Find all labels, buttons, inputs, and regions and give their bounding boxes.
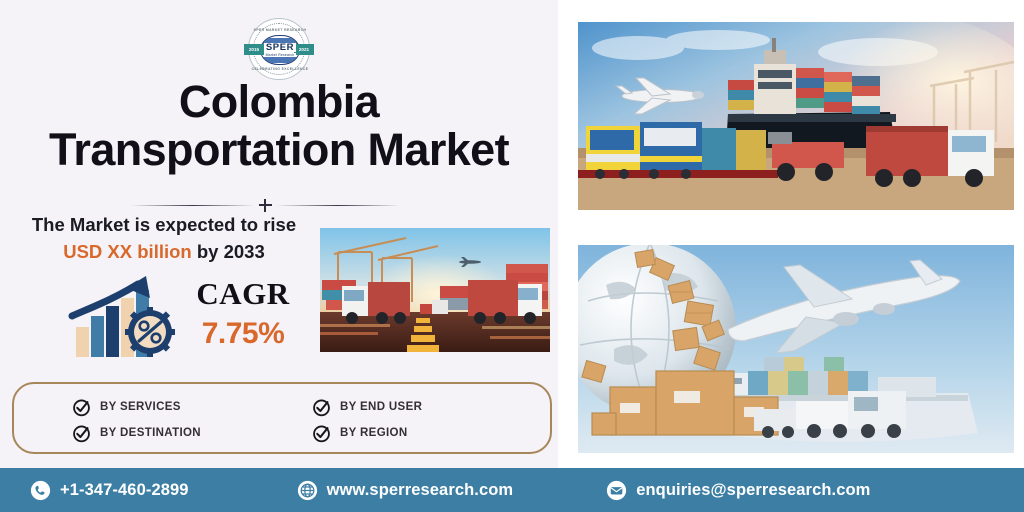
- headline-accent-value: USD XX billion: [63, 241, 191, 262]
- segments-box: BY SERVICES BY END USER BY DESTINATION: [12, 382, 552, 454]
- check-circle-icon: [72, 424, 91, 443]
- headline-lead: The Market is expected to rise: [14, 212, 314, 239]
- check-circle-icon: [312, 398, 331, 417]
- logo-tagline: Market Research: [264, 53, 297, 57]
- envelope-icon: [606, 480, 627, 501]
- title-line-2: Transportation Market: [0, 126, 558, 174]
- logo-arc-top-text: SPER MARKET RESEARCH: [249, 28, 311, 32]
- check-circle-icon: [72, 398, 91, 417]
- check-circle-icon: [312, 424, 331, 443]
- page-title: Colombia Transportation Market: [0, 78, 558, 173]
- cagr-block: CAGR 7.75%: [178, 278, 308, 351]
- footer-website[interactable]: www.sperresearch.com: [297, 480, 514, 501]
- globe-parcels-photo: [578, 245, 1014, 453]
- footer-email[interactable]: enquiries@sperresearch.com: [606, 480, 870, 501]
- port-highway-trucks-photo: [320, 228, 550, 352]
- segment-by-end-user[interactable]: BY END USER: [312, 398, 542, 417]
- phone-icon: [30, 480, 51, 501]
- cagr-label: CAGR: [178, 278, 308, 311]
- growth-chart-icon: [68, 272, 176, 364]
- market-headline: The Market is expected to rise USD XX bi…: [14, 212, 314, 266]
- segment-label: BY END USER: [340, 401, 422, 413]
- logo-core: SPER Market Research: [260, 35, 300, 65]
- multimodal-logistics-photo: [578, 22, 1014, 210]
- logo-container: SPER MARKET RESEARCH CELEBRATING EXCELLE…: [0, 18, 558, 80]
- logo-arc-bottom-text: CELEBRATING EXCELLENCE: [249, 67, 311, 71]
- segment-by-services[interactable]: BY SERVICES: [72, 398, 312, 417]
- segment-by-destination[interactable]: BY DESTINATION: [72, 424, 312, 443]
- divider-bar-left: [130, 205, 255, 206]
- segment-label: BY DESTINATION: [100, 427, 201, 439]
- divider-bar-right: [276, 205, 401, 206]
- contact-footer: +1-347-460-2899 www.sperresearch.com: [0, 468, 1024, 512]
- right-panel: [558, 0, 1024, 468]
- headline-forecast: USD XX billion by 2033: [14, 239, 314, 266]
- title-line-1: Colombia: [179, 76, 379, 127]
- segment-by-region[interactable]: BY REGION: [312, 424, 542, 443]
- segment-label: BY REGION: [340, 427, 407, 439]
- logo-ribbon-year-start: 2015: [244, 44, 264, 55]
- footer-email-text: enquiries@sperresearch.com: [636, 481, 870, 500]
- headline-tail: by 2033: [192, 241, 265, 262]
- globe-icon: [297, 480, 318, 501]
- divider-ornament-icon: [259, 199, 272, 212]
- footer-website-text: www.sperresearch.com: [327, 481, 514, 500]
- footer-phone-text: +1-347-460-2899: [60, 481, 189, 500]
- infographic-poster: SPER MARKET RESEARCH CELEBRATING EXCELLE…: [0, 0, 1024, 512]
- cagr-value: 7.75%: [178, 317, 308, 351]
- sper-logo-badge: SPER MARKET RESEARCH CELEBRATING EXCELLE…: [248, 18, 310, 80]
- segments-grid: BY SERVICES BY END USER BY DESTINATION: [72, 394, 542, 446]
- logo-ribbon-year-end: 2021: [294, 44, 314, 55]
- left-panel: SPER MARKET RESEARCH CELEBRATING EXCELLE…: [0, 0, 558, 468]
- footer-phone[interactable]: +1-347-460-2899: [30, 480, 189, 501]
- logo-wordmark: SPER: [264, 43, 296, 53]
- segment-label: BY SERVICES: [100, 401, 181, 413]
